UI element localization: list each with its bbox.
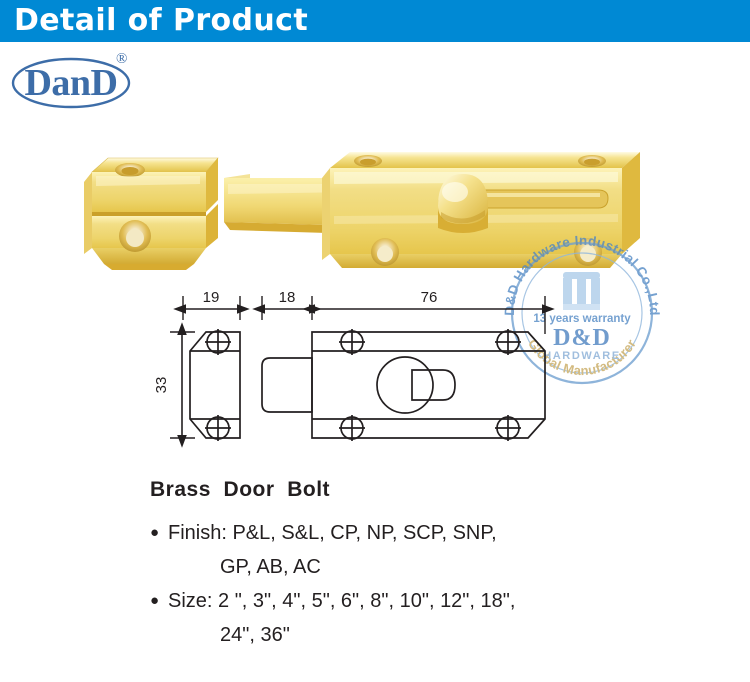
- drawing-bolt-tongue: [262, 358, 312, 412]
- page-header-banner: Detail of Product: [0, 0, 750, 42]
- drawing-main-plate-outline: [312, 332, 545, 438]
- dim-label-33: 33: [153, 377, 170, 394]
- product-knob-slot: [470, 190, 608, 208]
- bullet-icon-finish: ●: [150, 516, 168, 550]
- page-title: Detail of Product: [14, 1, 308, 41]
- dim-label-76: 76: [421, 289, 438, 306]
- finish-values-line2: GP, AB, AC: [150, 550, 730, 584]
- header-underline-accent: [0, 42, 155, 45]
- registered-trademark-icon: ®: [116, 51, 127, 68]
- product-name: Brass Door Bolt: [150, 478, 730, 502]
- size-values-line1: 2 ", 3", 4", 5", 6", 8", 10", 12", 18",: [218, 590, 515, 612]
- product-photo: [0, 130, 750, 300]
- spec-row-size: ●Size: 2 ", 3", 4", 5", 6", 8", 10", 12"…: [150, 584, 730, 618]
- finish-label: Finish:: [168, 522, 227, 544]
- product-spec-block: Brass Door Bolt ●Finish: P&L, S&L, CP, N…: [150, 478, 730, 652]
- spec-row-finish: ●Finish: P&L, S&L, CP, NP, SCP, SNP,: [150, 516, 730, 550]
- product-thumb-knob: [438, 174, 488, 233]
- bullet-icon-size: ●: [150, 584, 168, 618]
- logo-wordmark: DanD: [24, 62, 117, 104]
- drawing-keeper-outline: [190, 332, 240, 438]
- finish-values-line1: P&L, S&L, CP, NP, SCP, SNP,: [232, 522, 496, 544]
- drawing-extension-lines: [170, 296, 545, 438]
- product-keeper-part: [84, 158, 218, 270]
- size-label: Size:: [168, 590, 212, 612]
- technical-drawing: 19 18 76 33: [150, 288, 580, 463]
- dim-label-19: 19: [203, 289, 220, 306]
- drawing-knob-circle: [377, 357, 433, 413]
- product-main-plate: [322, 152, 640, 268]
- brand-logo: DanD: [8, 50, 208, 112]
- size-values-line2: 24", 36": [150, 618, 730, 652]
- dim-label-18: 18: [279, 289, 296, 306]
